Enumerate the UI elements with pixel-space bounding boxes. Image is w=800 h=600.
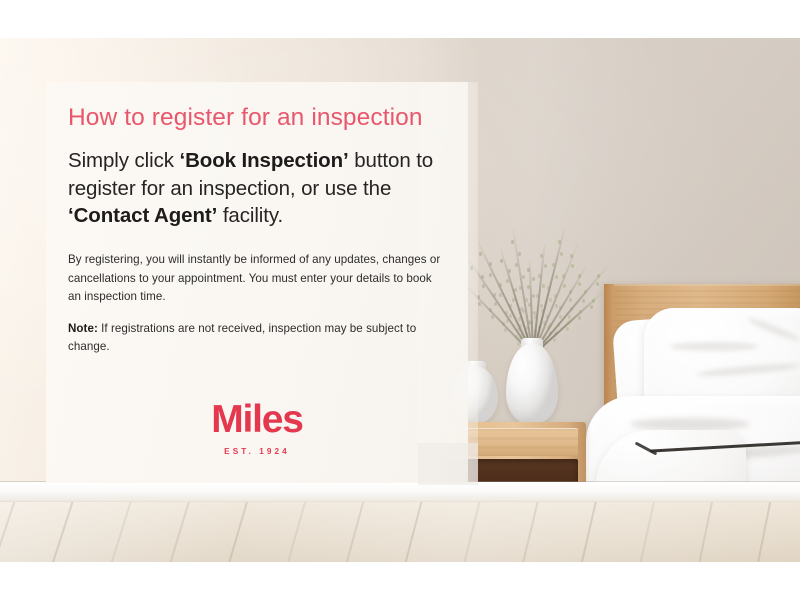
contact-agent-emphasis: ‘Contact Agent’ — [68, 204, 217, 227]
branch-leaf — [578, 274, 581, 278]
room-photo: How to register for an inspection Simply… — [0, 38, 800, 562]
branch-leaf — [499, 293, 502, 297]
branch-leaf — [560, 252, 563, 256]
branch-leaf — [527, 268, 530, 272]
branch-leaf — [478, 302, 481, 306]
branch-leaf — [526, 332, 529, 336]
branch-leaf — [578, 282, 581, 286]
wood-floor — [0, 502, 800, 562]
branch-leaf — [555, 304, 558, 308]
branch-leaf — [544, 264, 547, 268]
branch-leaf — [571, 264, 574, 268]
note-label: Note: — [68, 322, 98, 335]
branch-leaf — [597, 274, 600, 278]
branch-leaf — [519, 286, 522, 290]
lede-text-3: facility. — [217, 204, 283, 227]
text-overlay-panel: How to register for an inspection Simply… — [46, 82, 468, 483]
note-paragraph: Note: If registrations are not received,… — [68, 320, 442, 357]
duvet-fold — [630, 418, 750, 430]
branch-leaf — [532, 277, 535, 281]
branch-leaf — [540, 304, 543, 308]
branch-leaf — [489, 273, 492, 277]
branch-leaf — [567, 321, 570, 325]
pillow-crease — [696, 361, 800, 378]
branch-leaf — [493, 293, 496, 297]
branch-leaf — [518, 252, 521, 256]
branch-leaf — [569, 290, 572, 294]
branch-leaf — [538, 274, 541, 278]
branch-leaf — [534, 315, 537, 319]
branch-leaf — [569, 298, 572, 302]
branch-leaf — [532, 294, 535, 298]
branch-leaf — [540, 254, 543, 258]
branch-leaf — [517, 342, 520, 346]
lede-text-1: Simply click — [68, 149, 179, 172]
branch-leaf — [515, 263, 518, 267]
branch-leaf — [514, 288, 517, 292]
branch-leaf — [546, 315, 549, 319]
pillow-crease — [747, 316, 800, 343]
branch-leaf — [555, 275, 558, 279]
branch-leaf — [542, 284, 545, 288]
logo-established: EST. 1924 — [46, 447, 468, 456]
branch-leaf — [557, 323, 560, 327]
branch-leaf — [566, 327, 569, 331]
branch-leaf — [506, 319, 509, 323]
baseboard — [0, 482, 800, 503]
note-text: If registrations are not received, inspe… — [68, 322, 416, 353]
page-title: How to register for an inspection — [68, 104, 442, 131]
branch-leaf — [570, 307, 573, 311]
branch-leaf — [506, 279, 509, 283]
branch-leaf — [541, 309, 544, 313]
pillow-crease — [670, 342, 758, 351]
branch-leaf — [481, 275, 484, 279]
branch-leaf — [563, 284, 566, 288]
branch-leaf — [578, 316, 581, 320]
branch-leaf — [559, 306, 562, 310]
branch-leaf — [553, 338, 556, 342]
branch-leaf — [590, 305, 593, 309]
screenshot-stage: How to register for an inspection Simply… — [0, 0, 800, 600]
registration-info-paragraph: By registering, you will instantly be in… — [68, 251, 442, 306]
branch-leaf — [479, 252, 482, 256]
branch-leaf — [522, 275, 525, 279]
logo-wordmark: Miles — [46, 400, 468, 439]
branch-leaf — [491, 315, 494, 319]
branch-leaf — [499, 283, 502, 287]
branch-leaf — [596, 282, 599, 286]
branch-leaf — [525, 298, 528, 302]
branch-leaf — [579, 310, 582, 314]
text-panel-translucent-corner — [418, 443, 478, 485]
branch-leaf — [504, 328, 507, 332]
branch-leaf — [489, 262, 492, 266]
letterbox-top — [0, 0, 800, 38]
branch-leaf — [494, 302, 497, 306]
white-vase-large — [506, 344, 558, 424]
branch-leaf — [512, 298, 515, 302]
branch-leaf — [482, 284, 485, 288]
branch-leaf — [584, 290, 587, 294]
branch-leaf — [549, 298, 552, 302]
book-inspection-emphasis: ‘Book Inspection’ — [179, 149, 348, 172]
branch-leaf — [508, 269, 511, 273]
lede-paragraph: Simply click ‘Book Inspection’ button to… — [68, 147, 442, 229]
branch-leaf — [592, 299, 595, 303]
branch-leaf — [549, 323, 552, 327]
branch-leaf — [547, 286, 550, 290]
branch-leaf — [528, 303, 531, 307]
letterbox-bottom — [0, 562, 800, 600]
branch-leaf — [582, 299, 585, 303]
brand-logo: Miles EST. 1924 — [46, 400, 468, 456]
branch-leaf — [509, 304, 512, 308]
branch-leaf — [505, 311, 508, 315]
branch-leaf — [518, 317, 521, 321]
